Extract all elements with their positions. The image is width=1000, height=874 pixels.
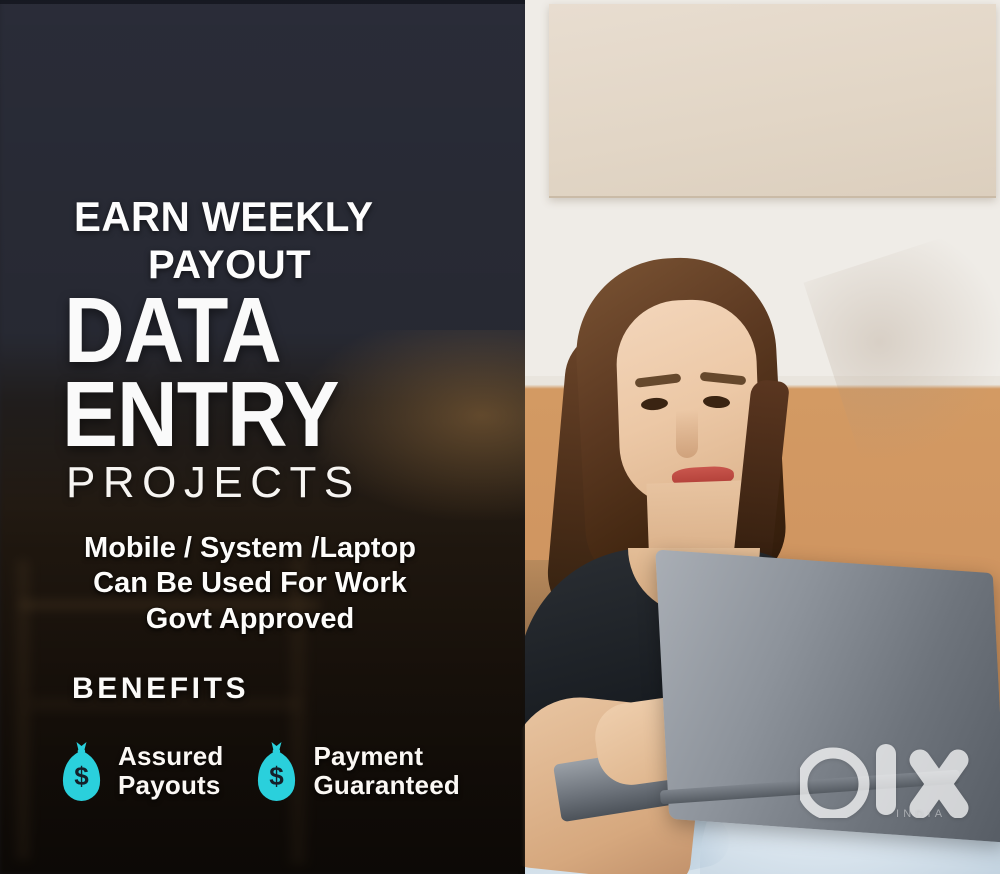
ad-copy: EARN WEEKLY PAYOUT DATA ENTRY PROJECTS M… [0, 0, 525, 874]
benefit-item: $ Payment Guaranteed [253, 740, 460, 802]
benefit-label: Assured Payouts [118, 742, 223, 800]
subtext-line-2: Can Be Used For Work [0, 566, 500, 601]
benefits-list: $ Assured Payouts $ Payment Guaranteed [58, 740, 528, 802]
olx-logo-icon [800, 742, 970, 818]
money-bag-icon: $ [253, 740, 300, 802]
benefit-label-line-1: Assured [118, 742, 223, 771]
olx-watermark: INDIA [800, 742, 970, 842]
subtext-line-1: Mobile / System /Laptop [0, 531, 500, 566]
benefit-label-line-2: Payouts [118, 771, 223, 800]
svg-text:$: $ [74, 761, 89, 791]
wall-canvas-art [549, 4, 996, 198]
benefit-label: Payment Guaranteed [313, 742, 460, 800]
money-bag-icon: $ [58, 740, 105, 802]
headline-entry: ENTRY [62, 368, 339, 460]
headline-projects: PROJECTS [66, 461, 361, 505]
benefit-label-line-1: Payment [313, 742, 460, 771]
subtext-line-3: Govt Approved [0, 602, 500, 637]
nose [676, 410, 698, 458]
benefit-label-line-2: Guaranteed [313, 771, 460, 800]
svg-text:$: $ [270, 761, 285, 791]
olx-region-label: INDIA [896, 808, 946, 820]
subtext-block: Mobile / System /Laptop Can Be Used For … [0, 531, 500, 637]
benefits-heading: BENEFITS [72, 672, 249, 706]
headline-earn-weekly: EARN WEEKLY [74, 196, 374, 238]
benefit-item: $ Assured Payouts [58, 740, 223, 802]
advertisement-banner: EARN WEEKLY PAYOUT DATA ENTRY PROJECTS M… [0, 0, 1000, 874]
